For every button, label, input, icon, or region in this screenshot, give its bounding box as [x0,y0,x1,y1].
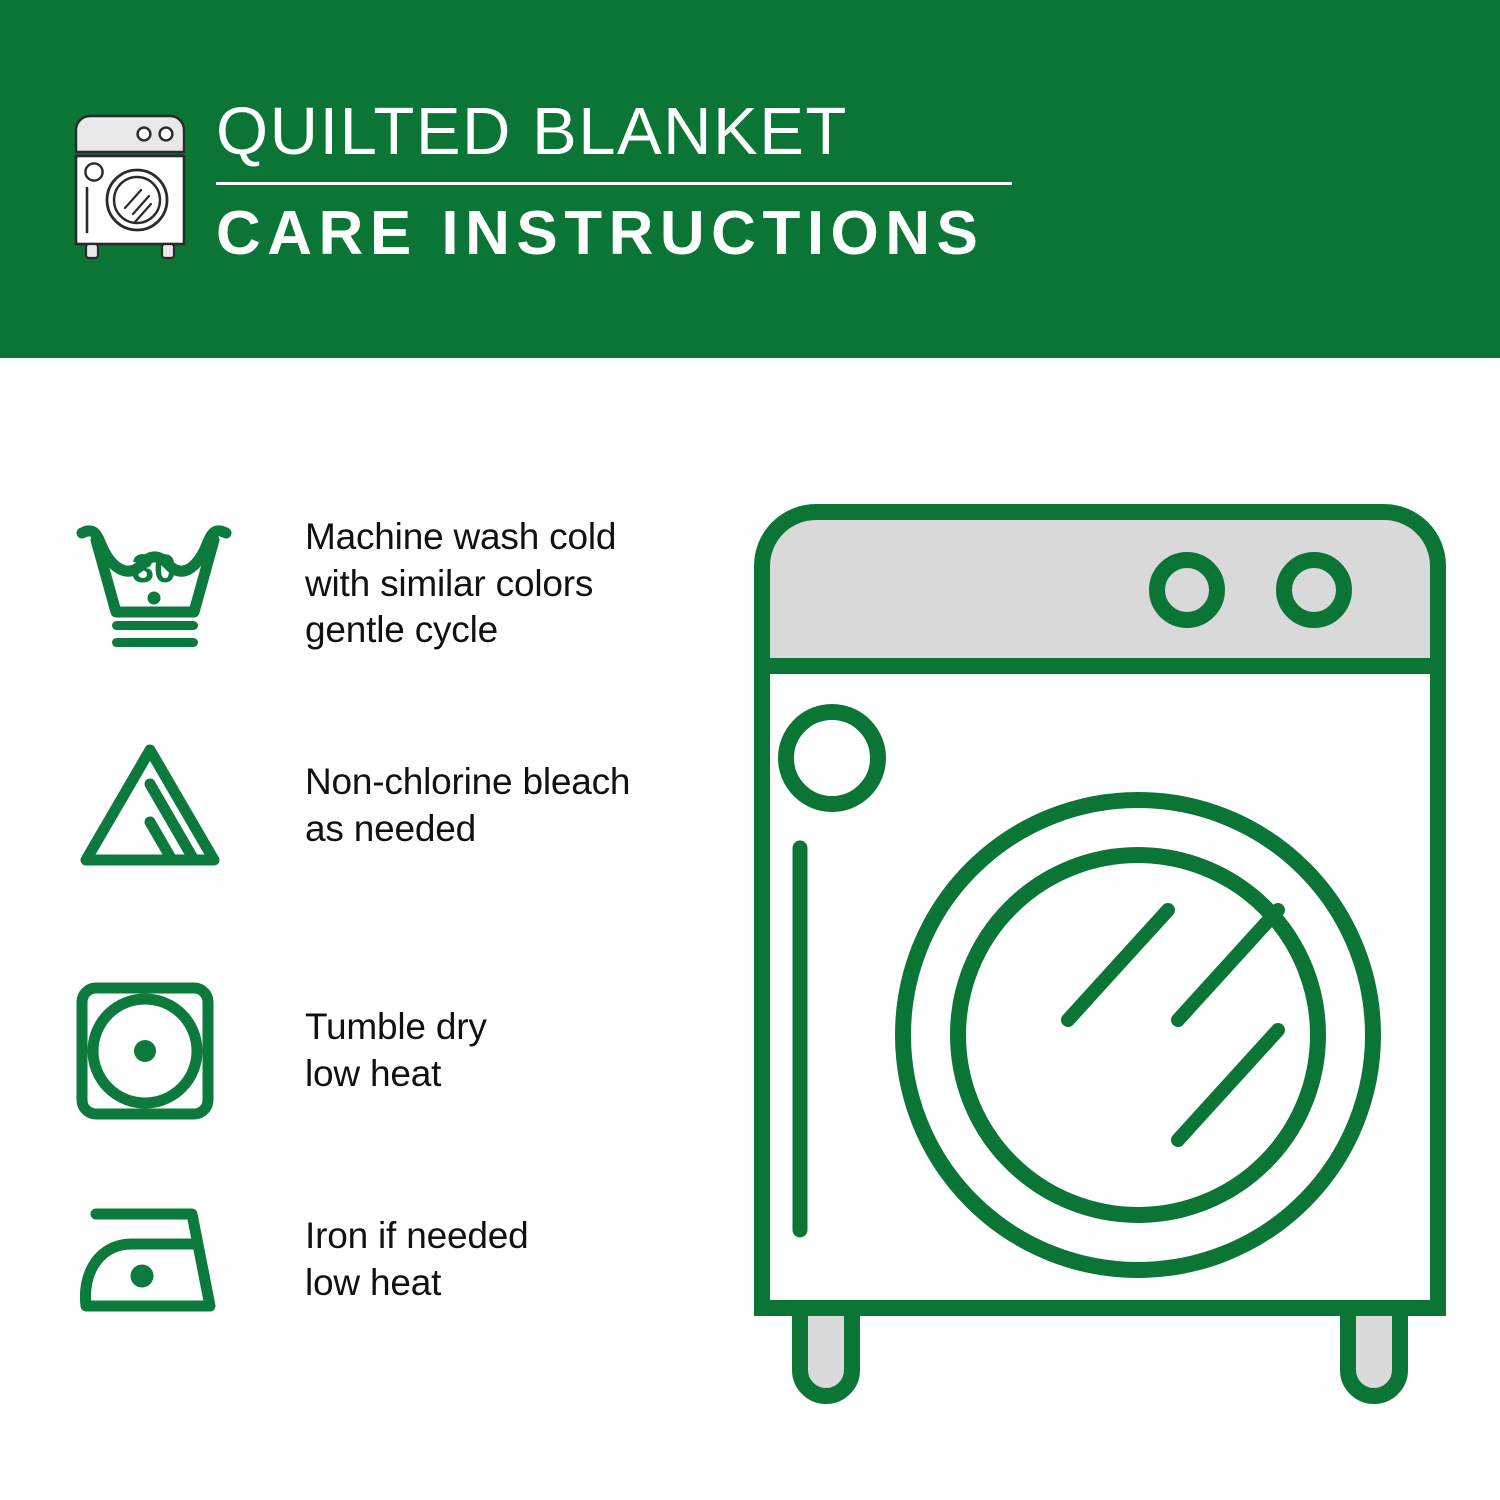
page-subtitle: CARE INSTRUCTIONS [216,201,1026,266]
leg-left [800,1308,852,1396]
care-text-machine-wash: Machine wash cold with similar colors ge… [245,514,616,654]
care-line: Machine wash cold [305,514,616,561]
care-text-tumble-dry: Tumble dry low heat [245,1004,487,1097]
care-text-bleach: Non-chlorine bleach as needed [245,759,630,852]
iron-low-heat-icon [70,1200,245,1320]
care-line: Tumble dry [305,1004,487,1051]
header-text-block: QUILTED BLANKET CARE INSTRUCTIONS [216,98,1026,266]
care-text-iron: Iron if needed low heat [245,1213,528,1306]
non-chlorine-bleach-triangle-icon [70,736,245,876]
care-instruction-list: 30 Machine wash cold with similar colors… [0,358,720,1500]
wash-tub-30-gentle-icon: 30 [70,516,245,651]
care-line: as needed [305,806,630,853]
care-line: with similar colors [305,561,616,608]
care-line: low heat [305,1260,528,1307]
care-line: low heat [305,1051,487,1098]
care-instructions-infographic: QUILTED BLANKET CARE INSTRUCTIONS 30 [0,0,1500,1500]
care-line: gentle cycle [305,607,616,654]
care-row-bleach: Non-chlorine bleach as needed [70,736,710,876]
care-row-iron: Iron if needed low heat [70,1200,710,1320]
care-line: Iron if needed [305,1213,528,1260]
washing-machine-icon [62,104,198,264]
header-banner: QUILTED BLANKET CARE INSTRUCTIONS [0,0,1500,358]
wash-temperature-label: 30 [132,547,177,591]
title-divider [216,182,1012,185]
care-row-machine-wash: 30 Machine wash cold with similar colors… [70,514,710,654]
front-load-washing-machine-illustration [740,490,1460,1420]
page-title: QUILTED BLANKET [216,98,1026,165]
care-row-tumble-dry: Tumble dry low heat [70,976,710,1126]
care-line: Non-chlorine bleach [305,759,630,806]
tumble-dry-low-icon [70,976,245,1126]
leg-right [1348,1308,1400,1396]
